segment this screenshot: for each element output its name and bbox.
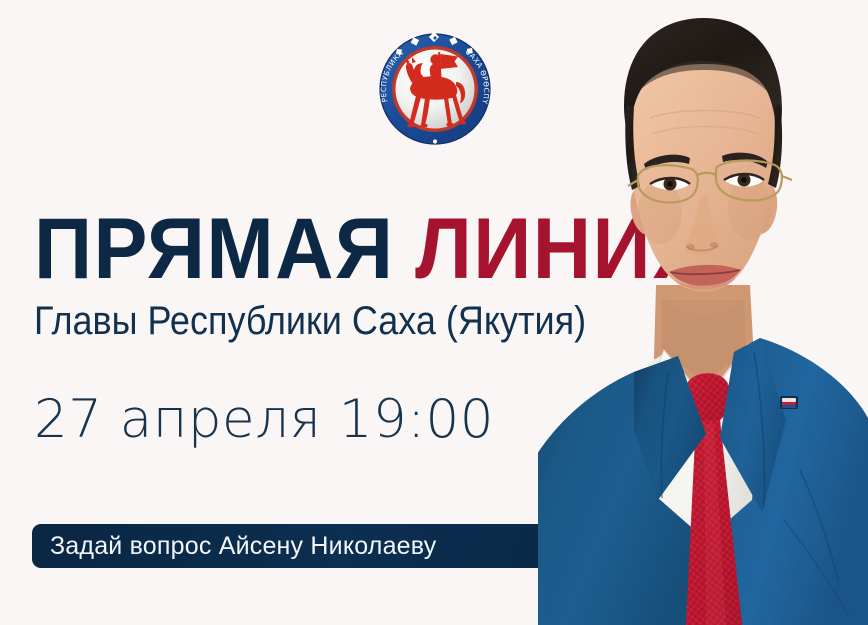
page-title: ПРЯМАЯЛИНИЯ [34, 206, 712, 292]
coat-of-arms-icon: РЕСПУБЛИКА САХА (ЯКУТИЯ) САХА ӨРӨСПҮҮБҮЛ… [376, 30, 494, 148]
page-subtitle: Главы Республики Саха (Якутия) [34, 299, 586, 343]
poster-canvas: РЕСПУБЛИКА САХА (ЯКУТИЯ) САХА ӨРӨСПҮҮБҮЛ… [0, 0, 868, 625]
title-word-accent: ЛИНИЯ [415, 201, 711, 297]
event-datetime: 27 апреля 19:00 [34, 390, 494, 450]
title-word-primary: ПРЯМАЯ [34, 201, 394, 297]
lapel-pin-icon [780, 396, 798, 409]
ask-question-label: Задай вопрос Айсену Николаеву [50, 524, 436, 568]
eyeglasses-icon [628, 161, 792, 203]
